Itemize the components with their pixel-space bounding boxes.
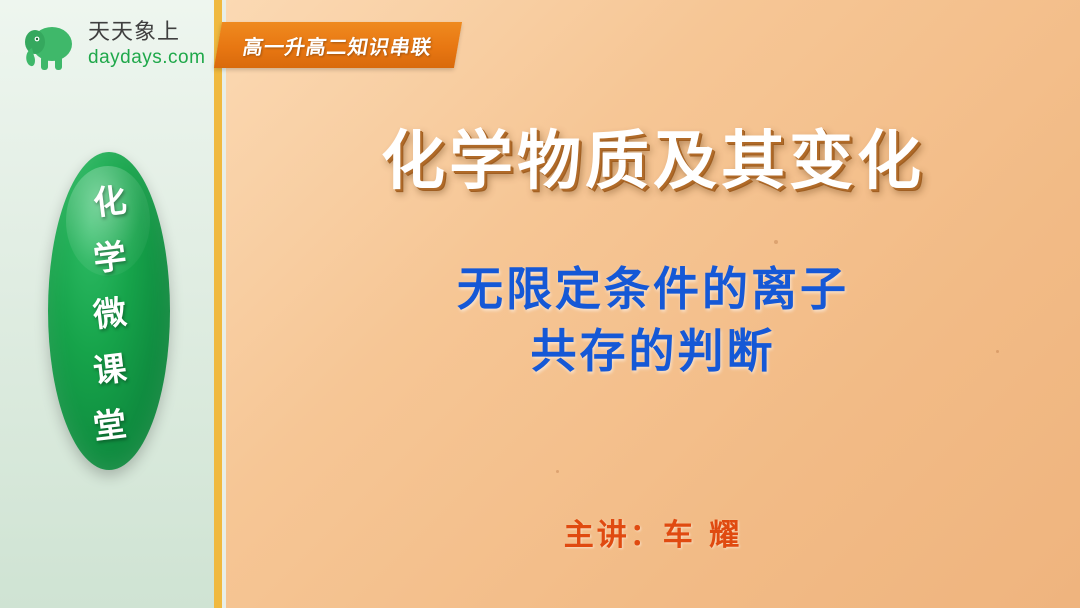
subtitle-line-2: 共存的判断 [226,320,1080,382]
presenter-label: 主讲：车 耀 [226,510,1080,554]
brand-logo: 天天象上 daydays.com [16,16,198,78]
speck-3 [556,470,559,473]
badge-char-3: 微 [90,285,129,337]
topic-banner-label: 高一升高二知识串联 [214,22,462,68]
badge-label-stack: 化 学 微 课 堂 [48,152,170,470]
speck-1 [774,240,778,244]
slide-content-panel: 高一升高二知识串联 化学物质及其变化 无限定条件的离子 共存的判断 主讲：车 耀 [226,0,1080,608]
brand-domain: daydays.com [88,46,205,70]
subtitle-line-1: 无限定条件的离子 [226,258,1080,320]
brand-logo-text: 天天象上 daydays.com [88,20,205,70]
gold-divider [214,0,222,608]
left-sidebar-panel: 天天象上 daydays.com 化 学 微 课 堂 [0,0,214,608]
badge-char-4: 课 [90,341,129,393]
page-title: 化学物质及其变化 [226,110,1080,202]
topic-banner: 高一升高二知识串联 [214,22,462,68]
slide-canvas: 天天象上 daydays.com 化 学 微 课 堂 高一升高二知识串联 化学物… [0,0,1080,608]
brand-name-cn: 天天象上 [88,20,205,46]
badge-char-1: 化 [90,173,129,225]
course-badge: 化 学 微 课 堂 [48,152,170,470]
elephant-icon [22,18,82,74]
badge-char-5: 堂 [90,397,129,449]
badge-char-2: 学 [90,229,129,281]
page-subtitle: 无限定条件的离子 共存的判断 [226,258,1080,382]
